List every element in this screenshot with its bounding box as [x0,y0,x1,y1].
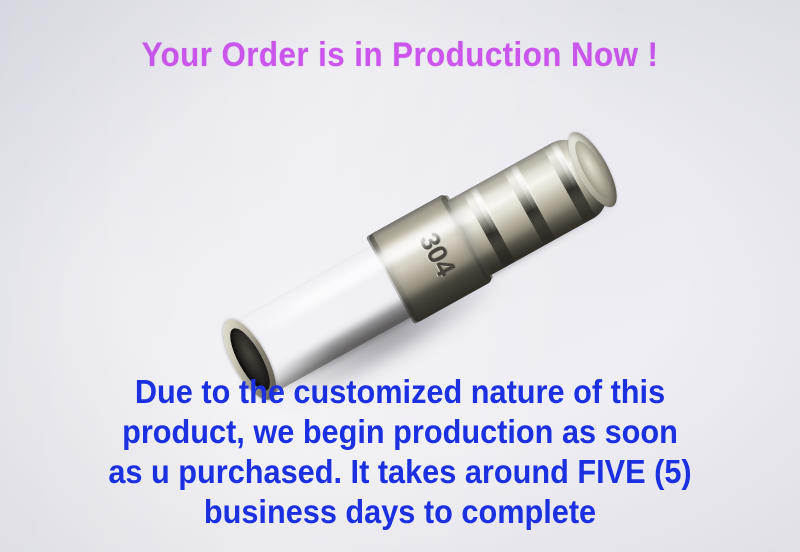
notice-canvas: Your Order is in Production Now ! 304 [0,0,800,552]
notice-line: as u purchased. It takes around FIVE (5) [28,452,772,492]
notice-line: product, we begin production as soon [28,412,772,452]
production-notice-text: Due to the customized nature of this pro… [28,372,772,532]
product-photo: 304 [195,140,635,380]
notice-line: Due to the customized nature of this [28,372,772,412]
page-title: Your Order is in Production Now ! [32,36,768,75]
notice-line: business days to complete [28,492,772,532]
